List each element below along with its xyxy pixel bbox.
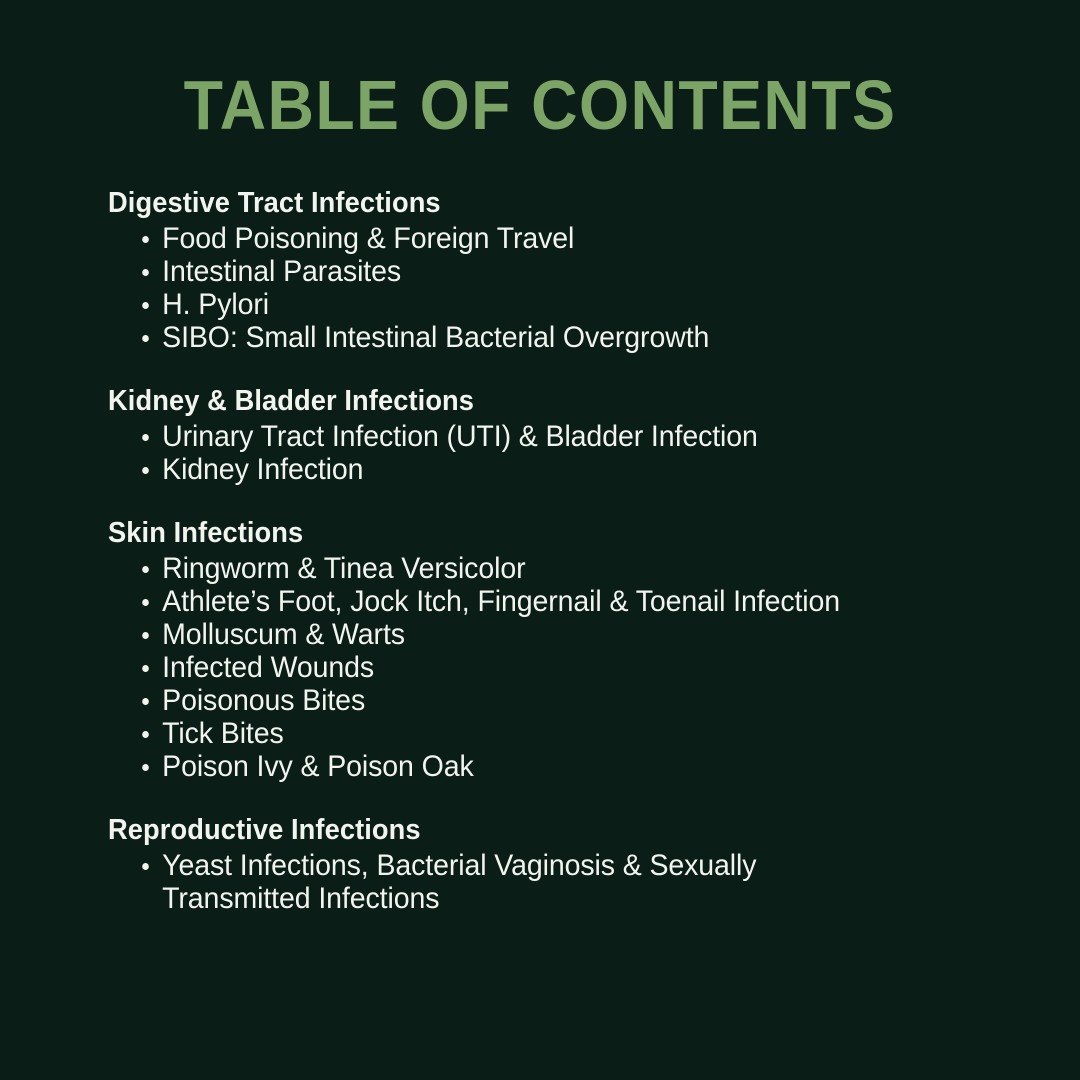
list-item-label: Food Poisoning & Foreign Travel [162, 222, 870, 255]
bullet-dot-icon [142, 731, 149, 738]
list-item-label: Infected Wounds [162, 651, 870, 684]
list-item[interactable]: Infected Wounds [108, 651, 870, 684]
list-item[interactable]: Athlete’s Foot, Jock Itch, Fingernail & … [108, 585, 870, 618]
bullet-dot-icon [142, 236, 149, 243]
bullet-dot-icon [142, 302, 149, 309]
list-item-label: Athlete’s Foot, Jock Itch, Fingernail & … [162, 585, 870, 618]
section-heading: Kidney & Bladder Infections [108, 384, 935, 418]
list-item[interactable]: Ringworm & Tinea Versicolor [108, 552, 870, 585]
list-item[interactable]: Yeast Infections, Bacterial Vaginosis & … [108, 849, 870, 915]
list-item[interactable]: Food Poisoning & Foreign Travel [108, 222, 870, 255]
bullet-dot-icon [142, 632, 149, 639]
list-item-label: Poison Ivy & Poison Oak [162, 750, 870, 783]
list-item[interactable]: Poisonous Bites [108, 684, 870, 717]
list-item-label: Yeast Infections, Bacterial Vaginosis & … [162, 849, 870, 915]
toc-section: Digestive Tract Infections Food Poisonin… [108, 186, 988, 354]
list-item-label: Intestinal Parasites [162, 255, 870, 288]
list-item-label: Molluscum & Warts [162, 618, 870, 651]
bullet-dot-icon [142, 665, 149, 672]
bullet-dot-icon [142, 566, 149, 573]
list-item[interactable]: SIBO: Small Intestinal Bacterial Overgro… [108, 321, 870, 354]
list-item-label: Poisonous Bites [162, 684, 870, 717]
bullet-dot-icon [142, 269, 149, 276]
toc-section-list: Digestive Tract Infections Food Poisonin… [108, 186, 988, 915]
section-heading: Digestive Tract Infections [108, 186, 935, 220]
bullet-dot-icon [142, 434, 149, 441]
section-heading: Skin Infections [108, 516, 935, 550]
section-item-list: Urinary Tract Infection (UTI) & Bladder … [108, 420, 988, 486]
list-item[interactable]: Molluscum & Warts [108, 618, 870, 651]
bullet-dot-icon [142, 467, 149, 474]
bullet-dot-icon [142, 698, 149, 705]
list-item[interactable]: Intestinal Parasites [108, 255, 870, 288]
section-heading: Reproductive Infections [108, 813, 935, 847]
list-item-label: Tick Bites [162, 717, 870, 750]
list-item-label: SIBO: Small Intestinal Bacterial Overgro… [162, 321, 870, 354]
list-item[interactable]: H. Pylori [108, 288, 870, 321]
list-item[interactable]: Tick Bites [108, 717, 870, 750]
list-item-label: Urinary Tract Infection (UTI) & Bladder … [162, 420, 870, 453]
section-item-list: Ringworm & Tinea Versicolor Athlete’s Fo… [108, 552, 988, 783]
list-item-label: H. Pylori [162, 288, 870, 321]
section-item-list: Yeast Infections, Bacterial Vaginosis & … [108, 849, 988, 915]
bullet-dot-icon [142, 863, 149, 870]
toc-section: Kidney & Bladder Infections Urinary Trac… [108, 384, 988, 486]
list-item[interactable]: Poison Ivy & Poison Oak [108, 750, 870, 783]
toc-section: Reproductive Infections Yeast Infections… [108, 813, 988, 915]
bullet-dot-icon [142, 335, 149, 342]
list-item[interactable]: Kidney Infection [108, 453, 870, 486]
bullet-dot-icon [142, 764, 149, 771]
list-item[interactable]: Urinary Tract Infection (UTI) & Bladder … [108, 420, 870, 453]
page-title: TABLE OF CONTENTS [43, 66, 1037, 144]
list-item-label: Ringworm & Tinea Versicolor [162, 552, 870, 585]
table-of-contents-page: TABLE OF CONTENTS Digestive Tract Infect… [0, 0, 1080, 1080]
toc-section: Skin Infections Ringworm & Tinea Versico… [108, 516, 988, 783]
list-item-label: Kidney Infection [162, 453, 870, 486]
bullet-dot-icon [142, 599, 149, 606]
section-item-list: Food Poisoning & Foreign Travel Intestin… [108, 222, 988, 354]
